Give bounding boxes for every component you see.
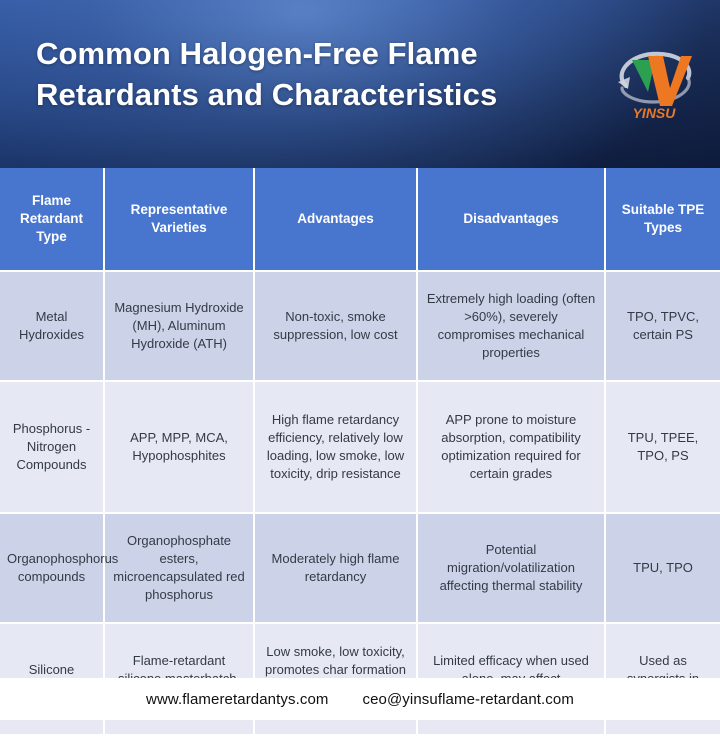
cell-disadvantages: APP prone to moisture absorption, compat…: [418, 382, 606, 514]
footer-website[interactable]: www.flameretardantys.com: [146, 691, 328, 708]
cell-advantages: High flame retardancy efficiency, relati…: [255, 382, 418, 514]
cell-tpe-types: TPU, TPEE, TPO, PS: [606, 382, 720, 514]
table-row: Metal Hydroxides Magnesium Hydroxide (MH…: [0, 272, 720, 382]
column-header-suitable-tpe-types: Suitable TPE Types: [606, 168, 720, 272]
characteristics-table: Flame Retardant Type Representative Vari…: [0, 168, 720, 678]
column-header-flame-retardant-type: Flame Retardant Type: [0, 168, 105, 272]
logo-orange-v: [648, 56, 692, 106]
cell-varieties: Magnesium Hydroxide (MH), Aluminum Hydro…: [105, 272, 255, 382]
column-header-advantages: Advantages: [255, 168, 418, 272]
cell-advantages: Non-toxic, smoke suppression, low cost: [255, 272, 418, 382]
table-row: Organophosphorus compounds Organophospha…: [0, 514, 720, 624]
cell-tpe-types: TPU, TPO: [606, 514, 720, 624]
cell-type: Phosphorus -Nitrogen Compounds: [0, 382, 105, 514]
table-header-row: Flame Retardant Type Representative Vari…: [0, 168, 720, 272]
header-banner: Common Halogen-Free Flame Retardants and…: [0, 0, 720, 168]
infographic-page: Common Halogen-Free Flame Retardants and…: [0, 0, 720, 720]
column-header-disadvantages: Disadvantages: [418, 168, 606, 272]
cell-advantages: Moderately high flame retardancy: [255, 514, 418, 624]
cell-type: Metal Hydroxides: [0, 272, 105, 382]
page-title: Common Halogen-Free Flame Retardants and…: [36, 34, 576, 116]
footer-email[interactable]: ceo@yinsuflame-retardant.com: [363, 691, 574, 708]
yinsu-logo: YINSU: [608, 44, 700, 124]
cell-varieties: APP, MPP, MCA, Hypophosphites: [105, 382, 255, 514]
cell-tpe-types: TPO, TPVC, certain PS: [606, 272, 720, 382]
cell-type: Organophosphorus compounds: [0, 514, 105, 624]
logo-wordmark: YINSU: [633, 105, 677, 121]
column-header-representative-varieties: Representative Varieties: [105, 168, 255, 272]
cell-disadvantages: Extremely high loading (often >60%), sev…: [418, 272, 606, 382]
cell-varieties: Organophosphate esters, microencapsulate…: [105, 514, 255, 624]
table-row: Phosphorus -Nitrogen Compounds APP, MPP,…: [0, 382, 720, 514]
footer-contact-bar: www.flameretardantys.com ceo@yinsuflame-…: [0, 678, 720, 720]
cell-disadvantages: Potential migration/volatilization affec…: [418, 514, 606, 624]
